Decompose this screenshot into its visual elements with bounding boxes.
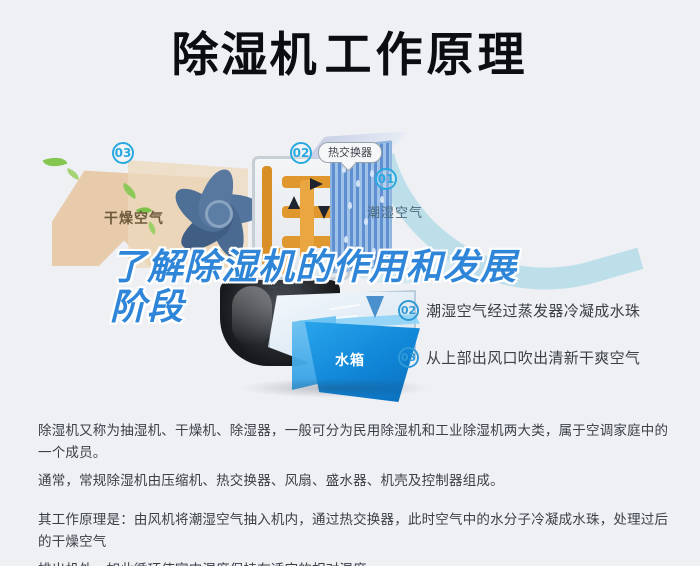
diagram-badge-02: 02	[290, 142, 312, 164]
paragraph-2-line-2: 排出机外，如此循环使室内湿度保持在适宜的相对湿度。	[38, 559, 670, 566]
list-item: 02 潮湿空气经过蒸发器冷凝成水珠	[398, 300, 688, 321]
label-compressor: 压缩机	[268, 280, 303, 296]
paragraph-2-line-1: 其工作原理是：由风机将潮湿空气抽入机内，通过热交换器，此时空气中的水分子冷凝成水…	[38, 509, 670, 553]
step-text: 潮湿空气经过蒸发器冷凝成水珠	[426, 300, 640, 321]
paragraph-1-line-1: 除湿机又称为抽湿机、干燥机、除湿器，一般可分为民用除湿机和工业除湿机两大类，属于…	[38, 420, 670, 464]
diagram-badge-03: 03	[112, 142, 134, 164]
step-text: 从上部出风口吹出清新干爽空气	[426, 347, 640, 368]
page-title-part1: 除湿机	[172, 28, 319, 83]
flow-arrow-up-icon	[288, 196, 300, 209]
page-title-part2: 工作原理	[325, 28, 529, 83]
label-dry-air: 干燥空气	[104, 208, 164, 228]
paragraph-1-line-2: 通常，常规除湿机由压缩机、热交换器、风扇、盛水器、机壳及控制器组成。	[38, 470, 670, 492]
label-water-tank: 水箱	[335, 350, 365, 370]
step-badge: 02	[398, 300, 419, 321]
leaf-icon	[65, 168, 81, 180]
fan-hub	[205, 200, 233, 228]
list-item: 03 从上部出风口吹出清新干爽空气	[398, 347, 688, 368]
paragraph-gap	[38, 498, 670, 509]
flow-arrow-right-icon	[310, 178, 323, 190]
water-drop-arrow-icon	[366, 296, 384, 318]
leaf-icon	[43, 152, 68, 171]
flow-arrow-down-icon	[318, 206, 330, 219]
machine-base-highlight	[232, 286, 272, 346]
diagram-badge-01: 01	[375, 168, 397, 190]
label-moist-air: 潮湿空气	[367, 202, 423, 221]
compressor-body	[268, 248, 292, 274]
page-title: 除湿机工作原理	[0, 28, 700, 84]
body-copy: 除湿机又称为抽湿机、干燥机、除湿器，一般可分为民用除湿机和工业除湿机两大类，属于…	[38, 420, 670, 566]
callout-heat-exchanger: 热交换器	[318, 142, 382, 163]
copper-pipe	[300, 180, 314, 264]
page-root: 除湿机工作原理	[0, 0, 700, 566]
step-badge: 03	[398, 347, 419, 368]
step-list: 02 潮湿空气经过蒸发器冷凝成水珠 03 从上部出风口吹出清新干爽空气	[398, 300, 688, 394]
